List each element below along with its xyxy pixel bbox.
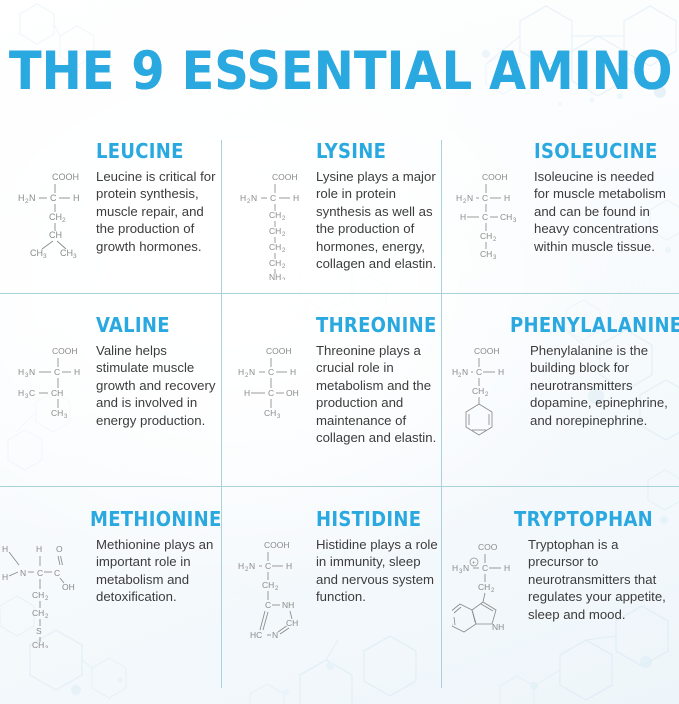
cell-description-histidine: Histidine plays a role in immunity, slee… bbox=[316, 536, 442, 606]
svg-text:H: H bbox=[504, 563, 510, 573]
cell-title-leucine: LEUCINE bbox=[96, 140, 218, 162]
cell-description-valine: Valine helps stimulate muscle growth and… bbox=[96, 342, 218, 429]
svg-text:CH: CH bbox=[32, 608, 44, 618]
svg-text:H: H bbox=[286, 561, 292, 571]
svg-text:3: 3 bbox=[43, 253, 47, 260]
svg-text:N: N bbox=[272, 630, 278, 640]
svg-text:N: N bbox=[29, 367, 35, 377]
svg-text:N: N bbox=[249, 367, 255, 377]
svg-text:COOH: COOH bbox=[272, 172, 298, 182]
svg-text:CH: CH bbox=[32, 590, 44, 600]
svg-text:3: 3 bbox=[73, 253, 77, 260]
svg-text:CH: CH bbox=[472, 386, 484, 396]
svg-text:COOH: COOH bbox=[52, 172, 79, 182]
svg-text:CH: CH bbox=[269, 210, 281, 220]
phenylalanine-structure-icon: COOH H2N C H CH2 bbox=[452, 342, 524, 436]
svg-text:H: H bbox=[238, 367, 244, 377]
amino-acid-cell-lysine: LYSINE COOH H2N C H CH2 CH2 CH2 CH2 bbox=[238, 140, 438, 280]
svg-text:2: 2 bbox=[485, 392, 489, 398]
svg-text:2: 2 bbox=[491, 588, 495, 594]
amino-acid-cell-histidine: HISTIDINE COOH H2N C H CH2 C NH CH bbox=[238, 508, 442, 644]
svg-text:COOH: COOH bbox=[264, 540, 290, 550]
svg-text:H: H bbox=[36, 544, 42, 554]
svg-text:2: 2 bbox=[282, 278, 286, 280]
leucine-structure-icon: COOH H2N C H CH2 CH CH3 CH3 bbox=[18, 168, 90, 262]
svg-text:COOH: COOH bbox=[482, 172, 508, 182]
svg-text:C: C bbox=[54, 367, 60, 377]
svg-text:CH: CH bbox=[262, 580, 274, 590]
svg-text:H: H bbox=[504, 193, 510, 203]
svg-text:CH: CH bbox=[286, 618, 298, 628]
svg-text:N: N bbox=[29, 193, 36, 203]
svg-text:3: 3 bbox=[513, 218, 517, 224]
svg-text:CH: CH bbox=[264, 408, 276, 418]
svg-text:H: H bbox=[73, 193, 80, 203]
amino-acid-cell-methionine: METHIONINE H H O H N C C OH CH2 bbox=[2, 508, 218, 648]
svg-text:2: 2 bbox=[282, 232, 286, 238]
svg-text:C: C bbox=[268, 367, 274, 377]
threonine-structure-icon: COOH H2N C H H C OH CH3 bbox=[238, 342, 310, 424]
svg-text:+: + bbox=[472, 561, 476, 567]
svg-text:H: H bbox=[290, 367, 296, 377]
cell-title-threonine: THREONINE bbox=[316, 314, 438, 336]
amino-acid-cell-tryptophan: TRYPTOPHAN COO H3N C H CH2 NH + bbox=[452, 508, 668, 644]
svg-text:S: S bbox=[36, 626, 42, 636]
svg-text:C: C bbox=[268, 388, 274, 398]
cell-title-tryptophan: TRYPTOPHAN bbox=[514, 508, 668, 530]
vertical-divider-2 bbox=[441, 140, 442, 688]
svg-text:H: H bbox=[238, 561, 244, 571]
svg-text:H: H bbox=[2, 572, 8, 582]
svg-text:H: H bbox=[74, 367, 80, 377]
page-title: THE 9 ESSENTIAL AMINO ACIDS bbox=[9, 42, 674, 102]
lysine-structure-icon: COOH H2N C H CH2 CH2 CH2 CH2 NH2 bbox=[238, 168, 310, 280]
amino-acid-cell-isoleucine: ISOLEUCINE COOH H2N C H H C CH3 CH2 bbox=[456, 140, 666, 262]
svg-text:CH: CH bbox=[51, 408, 63, 418]
svg-text:C: C bbox=[482, 193, 488, 203]
svg-text:CH: CH bbox=[500, 212, 512, 222]
svg-text:2: 2 bbox=[45, 596, 49, 602]
svg-text:N: N bbox=[463, 563, 469, 573]
svg-text:H: H bbox=[293, 193, 299, 203]
svg-text:H: H bbox=[18, 367, 24, 377]
svg-text:H: H bbox=[240, 193, 246, 203]
svg-text:2: 2 bbox=[275, 586, 279, 592]
svg-text:CH: CH bbox=[269, 258, 281, 268]
cell-title-lysine: LYSINE bbox=[316, 140, 438, 162]
svg-text:HC: HC bbox=[250, 630, 262, 640]
svg-text:H: H bbox=[456, 193, 462, 203]
cell-title-histidine: HISTIDINE bbox=[316, 508, 442, 530]
cell-description-phenylalanine: Phenylalanine is the building block for … bbox=[530, 342, 668, 429]
isoleucine-structure-icon: COOH H2N C H H C CH3 CH2 CH3 bbox=[456, 168, 528, 262]
cell-title-valine: VALINE bbox=[96, 314, 218, 336]
svg-text:NH: NH bbox=[282, 600, 294, 610]
tryptophan-structure-icon: COO H3N C H CH2 NH + bbox=[452, 536, 522, 644]
svg-text:CH: CH bbox=[51, 388, 63, 398]
amino-acid-cell-phenylalanine: PHENYLALANINE COOH H2N C H CH2 bbox=[452, 314, 668, 436]
svg-text:NH: NH bbox=[492, 622, 504, 632]
svg-text:H: H bbox=[2, 544, 8, 554]
cell-description-methionine: Methionine plays an important role in me… bbox=[96, 536, 218, 606]
svg-text:3: 3 bbox=[64, 414, 68, 420]
svg-text:C: C bbox=[482, 212, 488, 222]
svg-text:CH: CH bbox=[478, 582, 490, 592]
svg-text:CH: CH bbox=[60, 248, 73, 258]
svg-text:CH: CH bbox=[49, 212, 62, 222]
svg-text:COOH: COOH bbox=[266, 346, 292, 356]
svg-text:3: 3 bbox=[45, 646, 49, 648]
svg-text:H: H bbox=[244, 388, 250, 398]
svg-text:CH: CH bbox=[32, 640, 44, 648]
svg-text:O: O bbox=[56, 544, 63, 554]
svg-text:C: C bbox=[482, 563, 488, 573]
svg-text:OH: OH bbox=[286, 388, 299, 398]
cell-description-isoleucine: Isoleucine is needed for muscle metaboli… bbox=[534, 168, 666, 255]
svg-text:COOH: COOH bbox=[474, 346, 500, 356]
svg-text:H: H bbox=[498, 367, 504, 377]
svg-text:CH: CH bbox=[480, 249, 492, 259]
infographic-content: THE 9 ESSENTIAL AMINO ACIDS LEUCINE COOH… bbox=[0, 0, 679, 704]
horizontal-divider-1 bbox=[0, 293, 679, 294]
svg-text:C: C bbox=[54, 568, 60, 578]
horizontal-divider-2 bbox=[0, 486, 679, 487]
svg-text:2: 2 bbox=[493, 237, 497, 243]
svg-text:3: 3 bbox=[493, 255, 497, 261]
svg-text:N: N bbox=[251, 193, 257, 203]
svg-text:2: 2 bbox=[282, 264, 286, 270]
svg-text:N: N bbox=[462, 367, 468, 377]
histidine-structure-icon: COOH H2N C H CH2 C NH CH HC N bbox=[238, 536, 310, 644]
svg-text:C: C bbox=[265, 600, 271, 610]
svg-text:C: C bbox=[29, 388, 35, 398]
cell-description-leucine: Leucine is critical for protein synthesi… bbox=[96, 168, 218, 255]
svg-text:OH: OH bbox=[62, 582, 75, 592]
svg-text:CH: CH bbox=[49, 230, 62, 240]
amino-acid-cell-threonine: THREONINE COOH H2N C H H C OH CH3 bbox=[238, 314, 438, 446]
svg-text:3: 3 bbox=[277, 414, 281, 420]
svg-text:H: H bbox=[460, 212, 466, 222]
svg-text:CH: CH bbox=[269, 226, 281, 236]
cell-description-tryptophan: Tryptophan is a precursor to neurotransm… bbox=[528, 536, 668, 623]
cell-title-isoleucine: ISOLEUCINE bbox=[534, 140, 666, 162]
amino-acid-cell-valine: VALINE COOH H3N C H H3C CH CH3 bbox=[18, 314, 218, 429]
amino-acid-grid: LEUCINE COOH H2N C H CH2 CH CH3 CH3 bbox=[0, 118, 679, 678]
svg-text:CH: CH bbox=[480, 231, 492, 241]
svg-text:C: C bbox=[265, 561, 271, 571]
amino-acid-cell-leucine: LEUCINE COOH H2N C H CH2 CH CH3 CH3 bbox=[18, 140, 218, 262]
svg-text:COO: COO bbox=[478, 542, 498, 552]
cell-description-lysine: Lysine plays a major role in protein syn… bbox=[316, 168, 438, 272]
cell-title-methionine: METHIONINE bbox=[90, 508, 218, 530]
svg-text:N: N bbox=[467, 193, 473, 203]
svg-text:CH: CH bbox=[30, 248, 43, 258]
svg-text:2: 2 bbox=[62, 217, 66, 224]
svg-text:H: H bbox=[18, 388, 24, 398]
methionine-structure-icon: H H O H N C C OH CH2 CH2 S CH3 bbox=[2, 536, 90, 648]
svg-text:C: C bbox=[50, 193, 57, 203]
svg-text:CH: CH bbox=[269, 242, 281, 252]
svg-text:N: N bbox=[20, 568, 26, 578]
svg-text:2: 2 bbox=[45, 614, 49, 620]
cell-description-threonine: Threonine plays a crucial role in metabo… bbox=[316, 342, 438, 446]
cell-title-phenylalanine: PHENYLALANINE bbox=[510, 314, 668, 336]
svg-text:H: H bbox=[452, 563, 458, 573]
svg-text:2: 2 bbox=[282, 216, 286, 222]
svg-text:COOH: COOH bbox=[52, 346, 78, 356]
svg-text:N: N bbox=[249, 561, 255, 571]
svg-text:C: C bbox=[476, 367, 482, 377]
valine-structure-icon: COOH H3N C H H3C CH CH3 bbox=[18, 342, 90, 424]
svg-text:2: 2 bbox=[282, 248, 286, 254]
svg-text:C: C bbox=[37, 568, 43, 578]
svg-text:H: H bbox=[18, 193, 25, 203]
vertical-divider-1 bbox=[221, 140, 222, 688]
svg-text:C: C bbox=[270, 193, 276, 203]
